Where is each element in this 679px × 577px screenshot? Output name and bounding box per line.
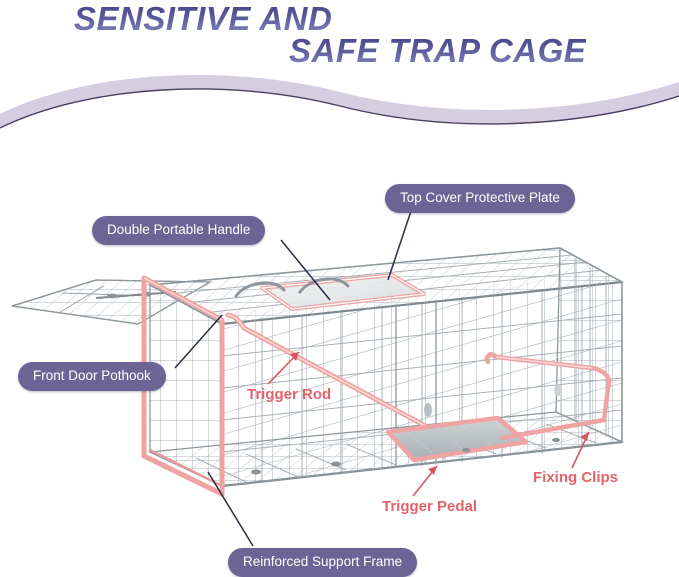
callout-trigger-rod: Trigger Rod	[247, 387, 331, 402]
callout-fixing-clips: Fixing Clips	[533, 470, 618, 485]
callout-double-portable-handle[interactable]: Double Portable Handle	[92, 216, 265, 245]
callout-front-door-pothook[interactable]: Front Door Pothook	[18, 362, 166, 391]
callout-trigger-pedal: Trigger Pedal	[382, 499, 477, 514]
trap-cage-illustration	[0, 120, 679, 577]
header-banner: SENSITIVE AND SAFE TRAP CAGE	[0, 0, 679, 130]
cage-rear-end-panel	[556, 248, 622, 442]
callout-top-cover-protective-plate[interactable]: Top Cover Protective Plate	[385, 184, 575, 213]
callout-reinforced-support-frame[interactable]: Reinforced Support Frame	[228, 548, 417, 577]
infographic-page: SENSITIVE AND SAFE TRAP CAGE	[0, 0, 679, 577]
